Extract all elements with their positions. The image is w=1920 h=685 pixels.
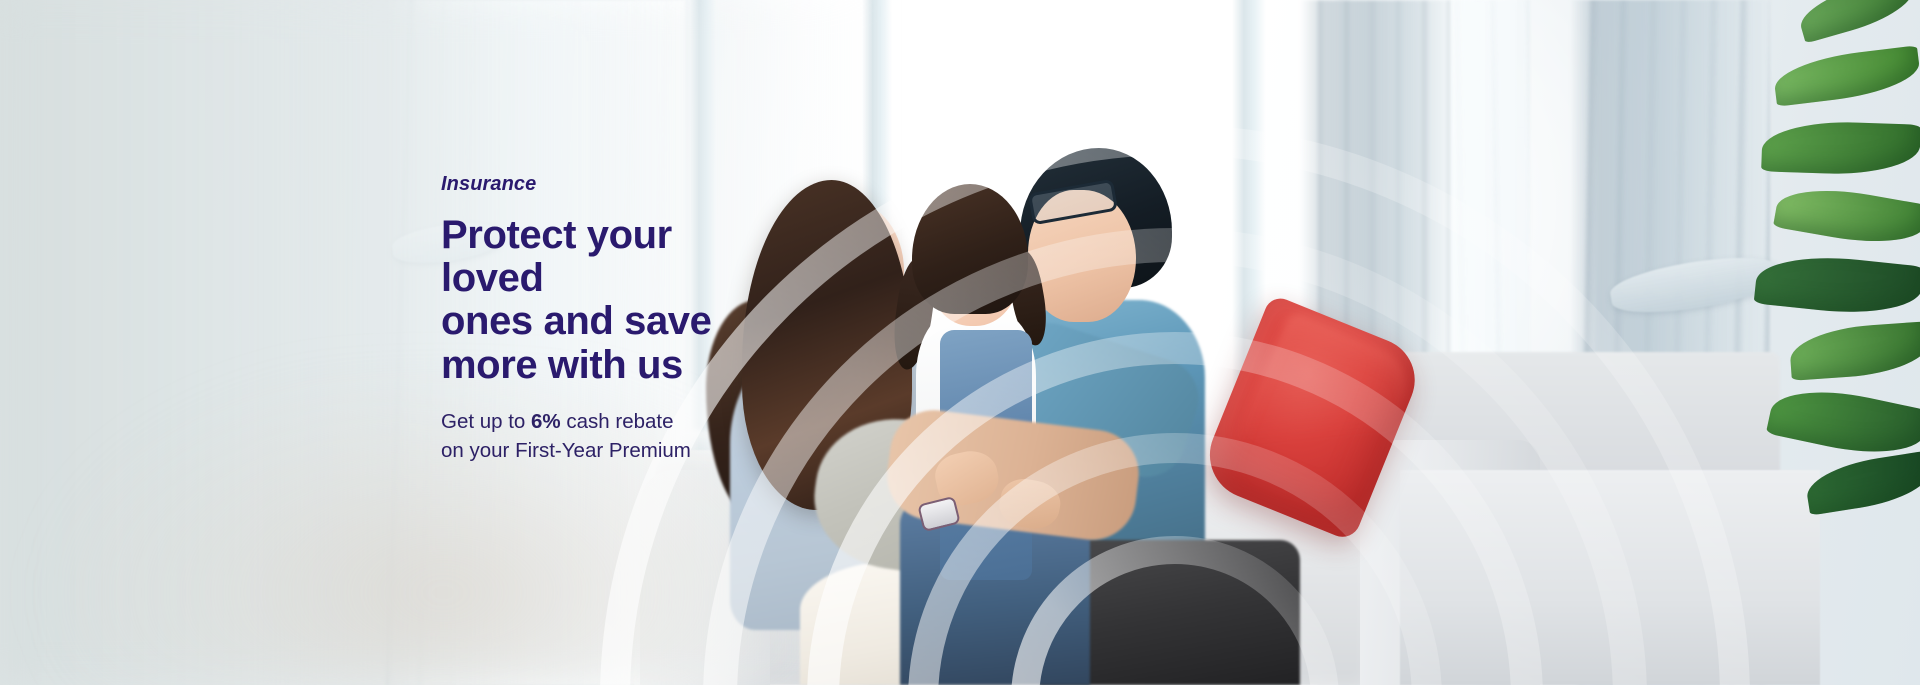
page-title: Protect your loved ones and save more wi… (441, 214, 771, 387)
insurance-hero-banner: Insurance Protect your loved ones and sa… (0, 0, 1920, 685)
family-photo (0, 0, 1920, 685)
child-hair (912, 184, 1028, 314)
hero-subtitle: Get up to 6% cash rebate on your First-Y… (441, 407, 771, 465)
subtitle-prefix: Get up to (441, 410, 531, 433)
subtitle-line-two: on your First-Year Premium (441, 439, 691, 462)
hero-copy-block: Insurance Protect your loved ones and sa… (441, 172, 771, 465)
eyebrow-label: Insurance (441, 172, 771, 196)
rebate-percent: 6% (531, 410, 561, 433)
subtitle-mid: cash rebate (561, 410, 674, 433)
